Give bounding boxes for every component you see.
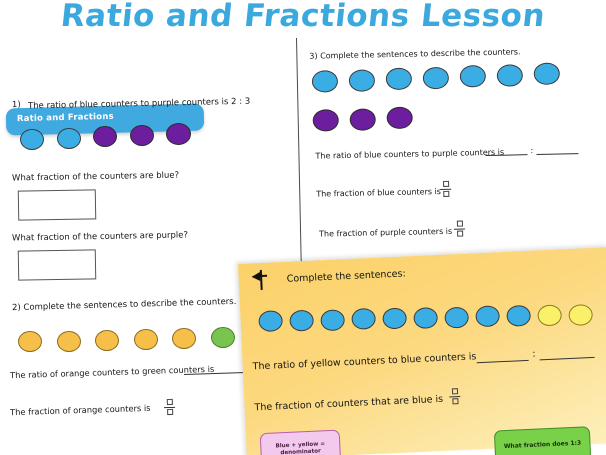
- counter-blue: [349, 69, 375, 92]
- fraction-bar: [440, 188, 451, 189]
- counter-blue: [460, 65, 486, 88]
- question-2-sentence-2: The fraction of orange counters is: [10, 403, 151, 417]
- fraction-bar: [454, 228, 465, 229]
- numerator-box[interactable]: [443, 181, 449, 187]
- counter-blue: [351, 308, 376, 330]
- counter-blue: [534, 62, 560, 85]
- question-1a-prompt: What fraction of the counters are blue?: [12, 171, 179, 184]
- answer-box-1a[interactable]: [18, 189, 97, 220]
- fraction-answer-box[interactable]: [440, 181, 451, 197]
- question-3-sentence-1: The ratio of blue counters to purple cou…: [315, 148, 504, 161]
- counter-orange: [134, 329, 158, 350]
- question-1b-prompt: What fraction of the counters are purple…: [12, 230, 188, 243]
- fraction-answer-box[interactable]: [164, 399, 175, 415]
- counter-blue: [413, 307, 438, 329]
- fraction-bar: [449, 396, 460, 397]
- pink-note-line-2: denominator: [280, 448, 321, 455]
- denominator-box[interactable]: [167, 409, 173, 415]
- denominator-box[interactable]: [457, 231, 463, 237]
- blank-line[interactable]: [477, 360, 529, 363]
- counter-purple: [166, 123, 191, 145]
- question-2-sentence-1: The ratio of orange counters to green co…: [10, 364, 214, 380]
- question-2-prompt: 2) Complete the sentences to describe th…: [12, 297, 237, 313]
- counter-purple: [130, 125, 154, 146]
- counter-green: [211, 327, 235, 348]
- fraction-answer-box[interactable]: [449, 388, 461, 404]
- counter-purple: [313, 109, 339, 132]
- yellow-slide-card: Complete the sentences: The ratio of yel…: [238, 247, 606, 455]
- counter-blue: [506, 305, 531, 327]
- ratio-colon: :: [532, 349, 536, 360]
- flag-icon: [250, 269, 271, 292]
- question-3-sentence-3: The fraction of purple counters is: [319, 227, 452, 239]
- blank-line[interactable]: [485, 154, 527, 156]
- question-1-number: 1): [12, 100, 21, 110]
- numerator-box[interactable]: [166, 399, 172, 405]
- counter-blue: [423, 67, 449, 90]
- counter-blue: [386, 68, 412, 91]
- counter-blue: [312, 70, 338, 93]
- answer-box-1b[interactable]: [18, 249, 97, 280]
- counter-orange: [172, 328, 196, 349]
- counter-blue: [382, 307, 407, 329]
- counter-blue: [20, 129, 44, 150]
- counter-blue: [289, 310, 314, 332]
- counter-blue: [320, 309, 345, 331]
- denominator-box[interactable]: [443, 191, 449, 197]
- counter-blue: [497, 64, 523, 87]
- green-note[interactable]: What fraction does 1:3: [494, 426, 591, 455]
- counter-orange: [57, 331, 81, 352]
- counter-orange: [95, 330, 119, 351]
- numerator-box[interactable]: [456, 221, 462, 227]
- counter-orange: [18, 331, 42, 352]
- numerator-box[interactable]: [451, 388, 457, 394]
- counter-blue: [57, 128, 81, 149]
- counter-purple: [349, 108, 375, 131]
- question-3-sentence-2: The fraction of blue counters is: [316, 187, 441, 199]
- blank-line[interactable]: [536, 153, 578, 155]
- question-3-prompt: 3) Complete the sentences to describe th…: [309, 47, 520, 60]
- yellow-card-sentence-2: The fraction of counters that are blue i…: [254, 394, 443, 414]
- ratio-colon: :: [530, 146, 533, 155]
- fraction-bar: [164, 406, 175, 407]
- yellow-card-heading: Complete the sentences:: [286, 268, 405, 284]
- yellow-card-sentence-1: The ratio of yellow counters to blue cou…: [252, 351, 476, 372]
- counter-yellow: [537, 304, 562, 326]
- denominator-box[interactable]: [452, 398, 458, 404]
- lesson-preview-canvas: Ratio and Fractions Lesson Ratio and Fra…: [0, 0, 606, 455]
- counter-blue: [444, 307, 469, 329]
- page-title: Ratio and Fractions Lesson: [0, 0, 606, 34]
- fraction-answer-box[interactable]: [454, 221, 465, 237]
- counter-blue: [475, 305, 500, 327]
- blank-line[interactable]: [540, 357, 595, 360]
- section-banner-label: Ratio and Fractions: [17, 112, 114, 124]
- green-note-line-1: What fraction does 1:3: [504, 440, 582, 451]
- counter-yellow: [568, 304, 593, 326]
- counter-purple: [386, 107, 412, 130]
- counter-purple: [93, 126, 117, 147]
- counter-blue: [258, 310, 283, 332]
- pink-note[interactable]: Blue + yellow = denominator: [260, 430, 342, 455]
